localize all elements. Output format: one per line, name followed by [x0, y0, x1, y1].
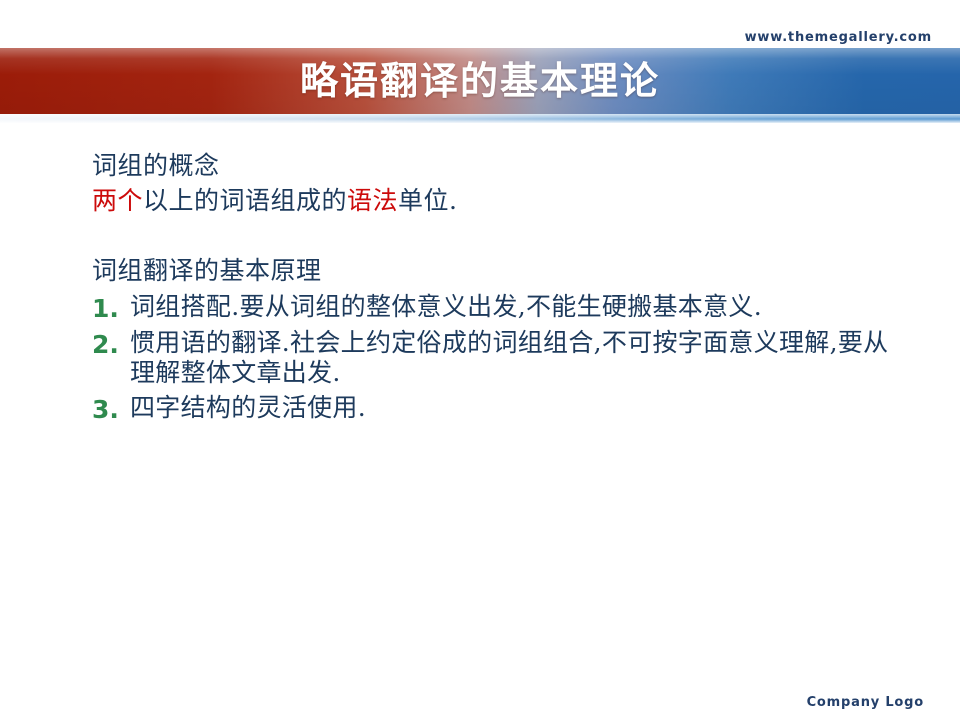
definition-plain-2: 单位.	[398, 186, 457, 215]
concept-heading: 词组的概念	[92, 150, 892, 183]
list-number-marker: 2.	[92, 328, 130, 360]
list-item-text: 四字结构的灵活使用.	[130, 393, 892, 424]
list-item: 1. 词组搭配.要从词组的整体意义出发,不能生硬搬基本意义.	[92, 292, 892, 324]
slide: www.themegallery.com 略语翻译的基本理论 词组的概念 两个以…	[0, 0, 960, 720]
website-url-label: www.themegallery.com	[745, 30, 932, 45]
definition-highlight-1: 两个	[92, 186, 143, 215]
title-banner: 略语翻译的基本理论	[0, 48, 960, 114]
banner-underglow-divider	[0, 114, 960, 123]
definition-plain-1: 以上的词语组成的	[143, 186, 347, 215]
content-spacer	[92, 217, 892, 255]
list-item: 3. 四字结构的灵活使用.	[92, 393, 892, 425]
slide-title: 略语翻译的基本理论	[0, 62, 960, 100]
concept-definition: 两个以上的词语组成的语法单位.	[92, 185, 892, 218]
company-logo-label: Company Logo	[807, 695, 924, 710]
principles-heading: 词组翻译的基本原理	[92, 255, 892, 288]
list-number-marker: 3.	[92, 393, 130, 425]
list-number-marker: 1.	[92, 292, 130, 324]
principles-list: 1. 词组搭配.要从词组的整体意义出发,不能生硬搬基本意义. 2. 惯用语的翻译…	[92, 292, 892, 426]
slide-body: 词组的概念 两个以上的词语组成的语法单位. 词组翻译的基本原理 1. 词组搭配.…	[92, 150, 892, 429]
top-url-strip: www.themegallery.com	[0, 0, 960, 48]
list-item-text: 词组搭配.要从词组的整体意义出发,不能生硬搬基本意义.	[130, 292, 892, 323]
footer-divider	[0, 689, 960, 690]
list-item: 2. 惯用语的翻译.社会上约定俗成的词组组合,不可按字面意义理解,要从理解整体文…	[92, 328, 892, 389]
list-item-text: 惯用语的翻译.社会上约定俗成的词组组合,不可按字面意义理解,要从理解整体文章出发…	[130, 328, 892, 389]
definition-highlight-2: 语法	[347, 186, 398, 215]
